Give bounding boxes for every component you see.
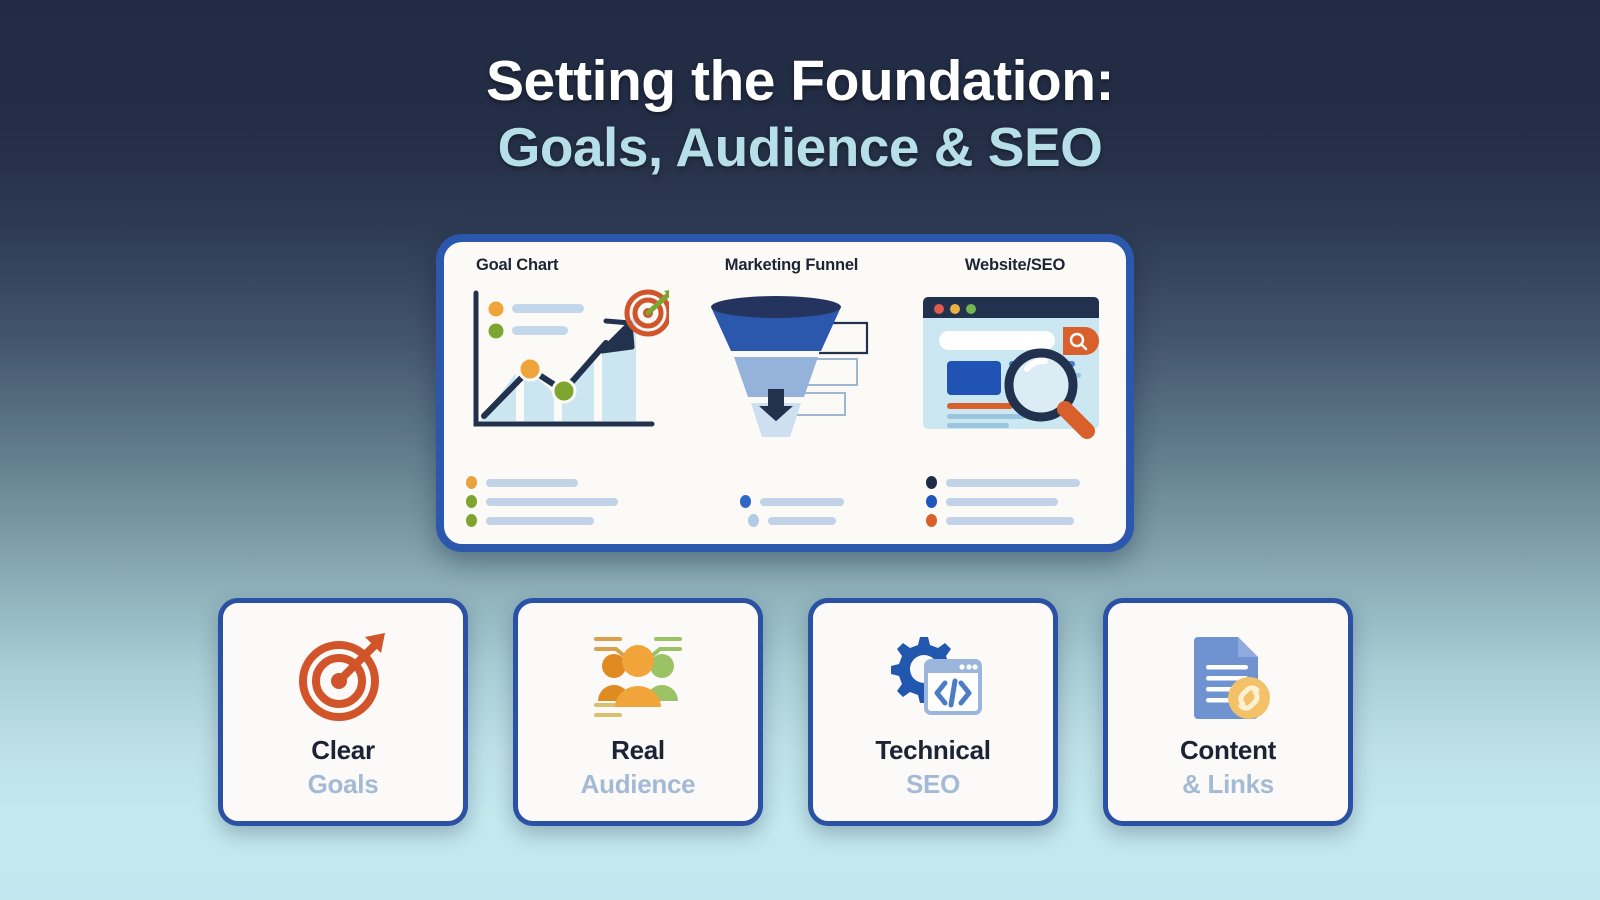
card-label-primary: Content bbox=[1180, 735, 1276, 766]
legend-row bbox=[466, 477, 679, 488]
traffic-light-green bbox=[966, 304, 976, 314]
legend-bar bbox=[486, 498, 618, 506]
card-label-secondary: Goals bbox=[308, 769, 379, 800]
card-real-audience[interactable]: Real Audience bbox=[513, 598, 763, 826]
website-seo-svg bbox=[915, 281, 1115, 445]
marketing-funnel-svg bbox=[689, 281, 894, 457]
title-line-accent: Goals, Audience & SEO bbox=[0, 115, 1600, 180]
legend-dot-green bbox=[466, 495, 477, 508]
legend-dot-orange bbox=[466, 476, 477, 489]
legend-bar bbox=[486, 479, 578, 487]
card-content-links[interactable]: Content & Links bbox=[1103, 598, 1353, 826]
search-pill bbox=[939, 331, 1055, 350]
traffic-light-red bbox=[934, 304, 944, 314]
traffic-light-yellow bbox=[950, 304, 960, 314]
legend-bar bbox=[486, 517, 594, 525]
goal-chart-illustration bbox=[454, 281, 669, 451]
panel-column-marketing-funnel: Marketing Funnel bbox=[679, 242, 904, 544]
chart-marker-orange bbox=[519, 358, 541, 380]
legend-dot-blue bbox=[740, 495, 751, 508]
legend-bar bbox=[760, 498, 844, 506]
legend-dot-navy bbox=[926, 476, 937, 489]
legend-row bbox=[740, 496, 844, 507]
panel-column-heading: Goal Chart bbox=[454, 256, 669, 275]
content-underline-bar bbox=[947, 403, 1013, 409]
page-title: Setting the Foundation: Goals, Audience … bbox=[0, 48, 1600, 180]
panel-column-heading: Marketing Funnel bbox=[689, 256, 894, 275]
legend-dot-green bbox=[466, 514, 477, 527]
card-label-primary: Technical bbox=[875, 735, 990, 766]
website-seo-illustration bbox=[914, 281, 1116, 451]
legend-dot-light-blue bbox=[748, 514, 759, 527]
card-label-secondary: & Links bbox=[1182, 769, 1274, 800]
gear-code-window-icon bbox=[882, 625, 984, 729]
browser-titlebar bbox=[923, 297, 1099, 318]
content-image-block bbox=[947, 361, 1001, 395]
legend-row bbox=[466, 496, 679, 507]
card-label-primary: Clear bbox=[311, 735, 375, 766]
legend-row bbox=[926, 496, 1126, 507]
legend-dot-orange bbox=[926, 514, 937, 527]
target-arrow-icon bbox=[295, 625, 391, 729]
legend-dot-blue bbox=[926, 495, 937, 508]
document-link-icon bbox=[1180, 625, 1276, 729]
people-group-icon bbox=[586, 625, 690, 729]
card-clear-goals[interactable]: Clear Goals bbox=[218, 598, 468, 826]
goal-chart-svg bbox=[454, 281, 669, 449]
legend-row bbox=[748, 515, 836, 526]
legend-bar bbox=[946, 517, 1074, 525]
website-seo-legend bbox=[904, 477, 1126, 534]
card-label-primary: Real bbox=[611, 735, 665, 766]
link-badge bbox=[1228, 677, 1270, 719]
panel-column-heading: Website/SEO bbox=[914, 256, 1116, 275]
panel-column-goal-chart: Goal Chart bbox=[444, 242, 679, 544]
card-label-secondary: SEO bbox=[906, 769, 960, 800]
marketing-funnel-illustration bbox=[689, 281, 894, 451]
title-line-primary: Setting the Foundation: bbox=[0, 48, 1600, 115]
card-label-secondary: Audience bbox=[581, 769, 696, 800]
panel-column-website-seo: Website/SEO bbox=[904, 242, 1126, 544]
legend-bar bbox=[768, 517, 836, 525]
illustration-panel: Goal Chart bbox=[436, 234, 1134, 552]
legend-row bbox=[926, 515, 1126, 526]
card-technical-seo[interactable]: Technical SEO bbox=[808, 598, 1058, 826]
infographic-canvas: Setting the Foundation: Goals, Audience … bbox=[0, 0, 1600, 900]
legend-bar bbox=[946, 479, 1080, 487]
search-badge bbox=[1063, 327, 1099, 355]
goal-chart-legend bbox=[444, 477, 679, 534]
chart-marker-green bbox=[553, 380, 575, 402]
legend-bar bbox=[946, 498, 1058, 506]
marketing-funnel-legend bbox=[679, 496, 904, 534]
pillar-card-row: Clear Goals bbox=[218, 598, 1354, 826]
legend-row bbox=[466, 515, 679, 526]
legend-row bbox=[926, 477, 1126, 488]
